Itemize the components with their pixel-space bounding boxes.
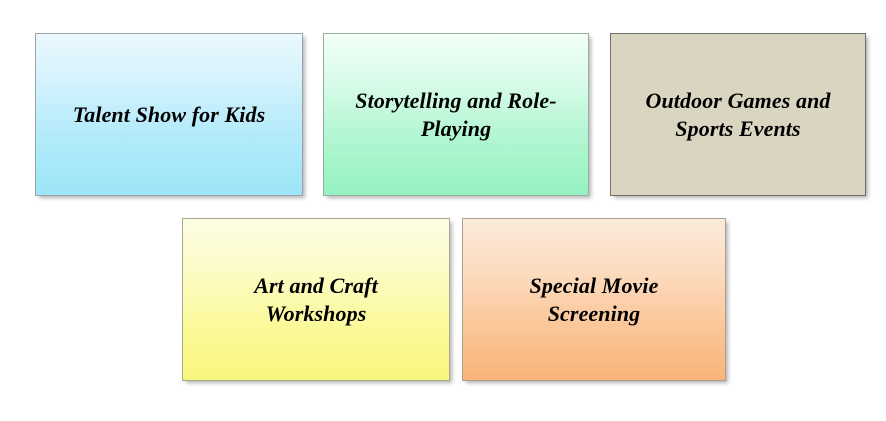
card-label: Outdoor Games and Sports Events bbox=[631, 87, 844, 143]
card-outdoor-games-and-sports-events[interactable]: Outdoor Games and Sports Events bbox=[610, 33, 866, 196]
card-special-movie-screening[interactable]: Special Movie Screening bbox=[462, 218, 726, 381]
slide-canvas: Talent Show for Kids Storytelling and Ro… bbox=[0, 0, 886, 421]
card-label: Talent Show for Kids bbox=[59, 101, 280, 129]
card-label: Storytelling and Role- Playing bbox=[341, 87, 570, 143]
card-storytelling-and-role-playing[interactable]: Storytelling and Role- Playing bbox=[323, 33, 589, 196]
card-talent-show-for-kids[interactable]: Talent Show for Kids bbox=[35, 33, 303, 196]
card-art-and-craft-workshops[interactable]: Art and Craft Workshops bbox=[182, 218, 450, 381]
card-label: Art and Craft Workshops bbox=[240, 272, 392, 328]
card-label: Special Movie Screening bbox=[516, 272, 673, 328]
